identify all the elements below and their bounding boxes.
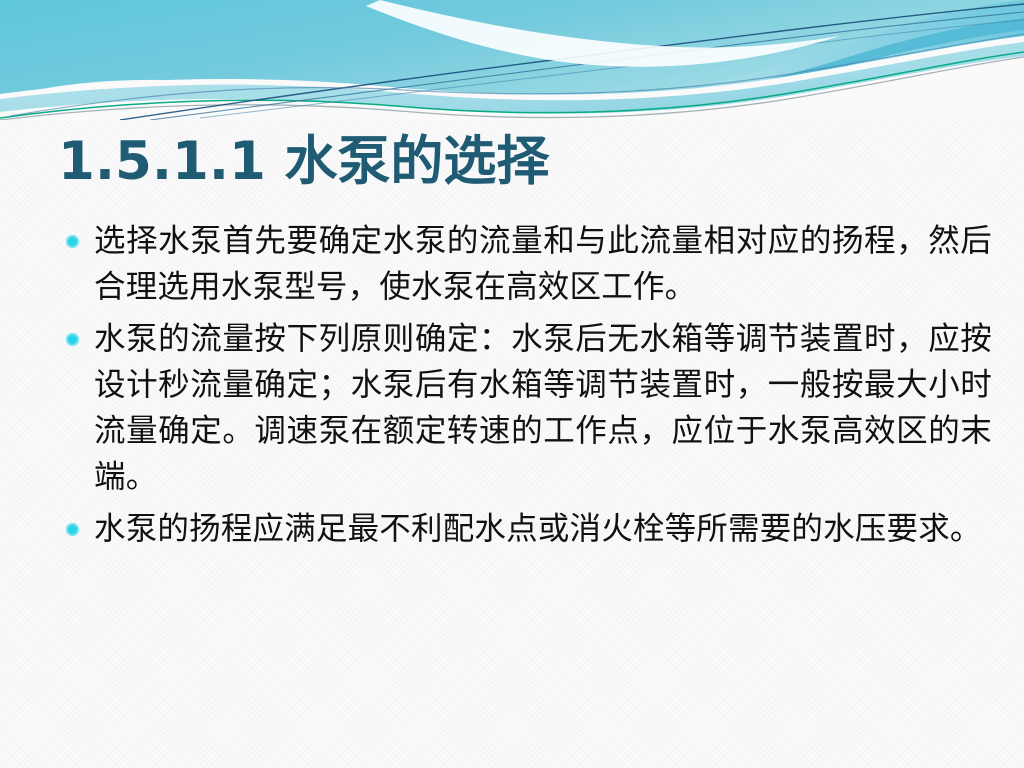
list-item-text: 水泵的流量按下列原则确定：水泵后无水箱等调节装置时，应按设计秒流量确定；水泵后有…	[94, 316, 992, 500]
header-wave-banner	[0, 0, 1024, 120]
list-item: 水泵的流量按下列原则确定：水泵后无水箱等调节装置时，应按设计秒流量确定；水泵后有…	[62, 316, 992, 500]
list-item-text: 选择水泵首先要确定水泵的流量和与此流量相对应的扬程，然后合理选用水泵型号，使水泵…	[94, 218, 992, 310]
list-item: 选择水泵首先要确定水泵的流量和与此流量相对应的扬程，然后合理选用水泵型号，使水泵…	[62, 218, 992, 310]
bullet-dot-icon	[66, 333, 79, 346]
presentation-slide: 1.5.1.1 水泵的选择 选择水泵首先要确定水泵的流量和与此流量相对应的扬程，…	[0, 0, 1024, 768]
page-title: 1.5.1.1 水泵的选择	[58, 133, 549, 190]
bullet-dot-icon	[66, 523, 79, 536]
bullet-dot-icon	[66, 235, 79, 248]
list-item: 水泵的扬程应满足最不利配水点或消火栓等所需要的水压要求。	[62, 506, 992, 552]
slide-body: 选择水泵首先要确定水泵的流量和与此流量相对应的扬程，然后合理选用水泵型号，使水泵…	[62, 218, 992, 552]
list-item-text: 水泵的扬程应满足最不利配水点或消火栓等所需要的水压要求。	[94, 506, 992, 552]
title-block: 1.5.1.1 水泵的选择	[58, 133, 549, 190]
wave-graphic	[0, 0, 1024, 120]
